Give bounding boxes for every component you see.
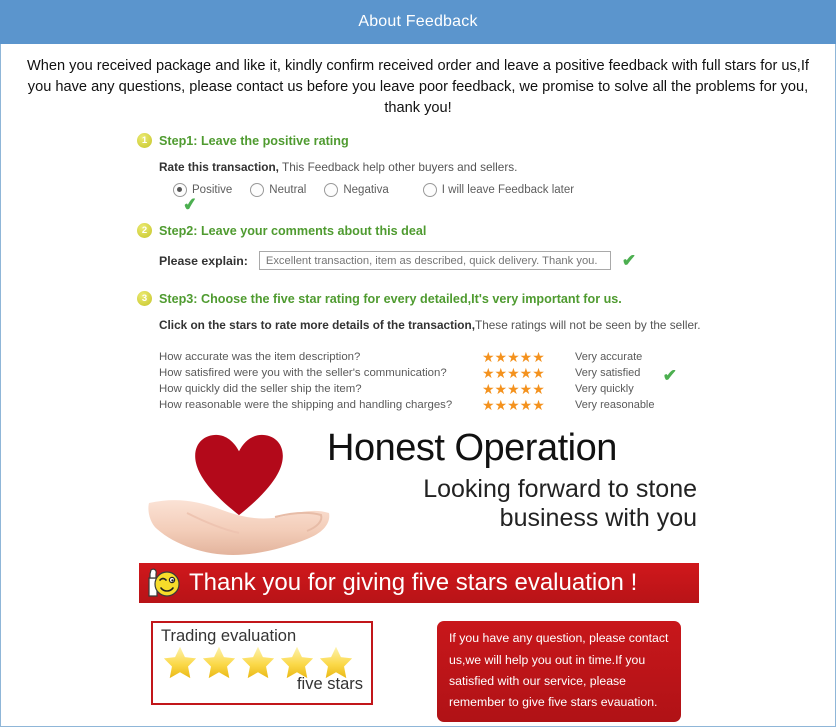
- rating-question: How satisfired were you with the seller'…: [159, 367, 482, 379]
- click-stars-bold: Click on the stars to rate more details …: [159, 318, 475, 332]
- honest-operation-text: Honest Operation Looking forward to ston…: [327, 429, 699, 533]
- page-header: About Feedback: [0, 0, 836, 44]
- promo-bottom-row: Trading evaluation five stars If you hav…: [139, 621, 699, 722]
- radio-later-label: I will leave Feedback later: [442, 184, 574, 196]
- palm-hand-icon: [147, 497, 333, 559]
- rating-stars[interactable]: ★★★★★: [482, 350, 567, 364]
- gold-star-icon: [200, 645, 238, 679]
- step-3-header: 3 Step3: Choose the five star rating for…: [137, 291, 825, 306]
- gold-star-icon: [278, 645, 316, 679]
- explain-input[interactable]: [259, 251, 611, 270]
- step-1-header: 1 Step1: Leave the positive rating: [137, 133, 825, 148]
- step-1-badge: 1: [137, 133, 152, 148]
- radio-neutral-icon[interactable]: [250, 183, 264, 197]
- rating-radio-group: Positive Neutral Negativa I will leave F…: [159, 183, 825, 209]
- rate-transaction-bold: Rate this transaction,: [159, 160, 279, 174]
- intro-paragraph: When you received package and like it, k…: [1, 44, 835, 125]
- step-2-title: Step2: Leave your comments about this de…: [159, 224, 426, 238]
- step-2-body: Please explain: ✔: [137, 251, 825, 270]
- steps-container: 1 Step1: Leave the positive rating Rate …: [1, 133, 835, 413]
- trading-evaluation-stars: [161, 645, 363, 679]
- winking-smiley-thumbsup-icon: [145, 566, 181, 600]
- honest-subtitle: Looking forward to stone business with y…: [327, 475, 699, 533]
- step-3-badge: 3: [137, 291, 152, 306]
- rating-stars[interactable]: ★★★★★: [482, 398, 567, 412]
- rating-word: Very accurate: [567, 351, 642, 363]
- explain-checkmark-icon: ✔: [622, 252, 636, 269]
- detailed-ratings-table: How accurate was the item description? ★…: [159, 349, 825, 413]
- rating-question: How quickly did the seller ship the item…: [159, 383, 482, 395]
- explain-label: Please explain:: [159, 254, 248, 268]
- rating-question: How accurate was the item description?: [159, 351, 482, 363]
- thanks-text: Thank you for giving five stars evaluati…: [189, 571, 637, 595]
- rating-row: How satisfired were you with the seller'…: [159, 365, 825, 381]
- rating-question: How reasonable were the shipping and han…: [159, 399, 482, 411]
- click-stars-rest: These ratings will not be seen by the se…: [475, 318, 701, 332]
- gold-star-icon: [317, 645, 355, 679]
- click-stars-line: Click on the stars to rate more details …: [159, 318, 825, 332]
- honest-subtitle-line1: Looking forward to stone: [327, 475, 697, 504]
- gold-star-icon: [239, 645, 277, 679]
- explain-row: Please explain: ✔: [159, 251, 825, 270]
- rating-word: Very reasonable: [567, 399, 655, 411]
- hand-holding-heart-image: [147, 427, 337, 559]
- gold-star-icon: [161, 645, 199, 679]
- honest-title: Honest Operation: [327, 429, 699, 469]
- thanks-banner: Thank you for giving five stars evaluati…: [139, 563, 699, 603]
- radio-positive-label: Positive: [192, 184, 232, 196]
- step-2-badge: 2: [137, 223, 152, 238]
- rating-stars[interactable]: ★★★★★: [482, 366, 567, 380]
- step-1-body: Rate this transaction, This Feedback hel…: [137, 160, 825, 209]
- radio-option-neutral[interactable]: Neutral: [250, 183, 306, 197]
- radio-option-later[interactable]: I will leave Feedback later: [423, 183, 574, 197]
- rate-transaction-line: Rate this transaction, This Feedback hel…: [159, 160, 825, 174]
- honest-subtitle-line2: business with you: [327, 504, 697, 533]
- feedback-page: About Feedback When you received package…: [0, 0, 836, 728]
- rating-row: How accurate was the item description? ★…: [159, 349, 825, 365]
- radio-neutral-label: Neutral: [269, 184, 306, 196]
- rate-transaction-rest: This Feedback help other buyers and sell…: [279, 160, 517, 174]
- rating-word: Very quickly: [567, 383, 634, 395]
- promo-banner: Honest Operation Looking forward to ston…: [139, 427, 699, 722]
- positive-checkmark-icon: ✔: [182, 196, 198, 215]
- radio-negativa-label: Negativa: [343, 184, 388, 196]
- honest-operation-section: Honest Operation Looking forward to ston…: [139, 427, 699, 559]
- rating-row: How quickly did the seller ship the item…: [159, 381, 825, 397]
- radio-later-icon[interactable]: [423, 183, 437, 197]
- step-3-title: Step3: Choose the five star rating for e…: [159, 292, 622, 306]
- trading-evaluation-title: Trading evaluation: [161, 627, 363, 646]
- contact-us-notice: If you have any question, please contact…: [437, 621, 681, 722]
- radio-option-negativa[interactable]: Negativa: [324, 183, 388, 197]
- rating-word: Very satisfied: [567, 367, 640, 379]
- rating-stars[interactable]: ★★★★★: [482, 382, 567, 396]
- content-frame: When you received package and like it, k…: [0, 44, 836, 727]
- page-title: About Feedback: [358, 13, 477, 31]
- rating-row: How reasonable were the shipping and han…: [159, 397, 825, 413]
- trading-evaluation-box: Trading evaluation five stars: [151, 621, 373, 705]
- step-2-header: 2 Step2: Leave your comments about this …: [137, 223, 825, 238]
- radio-negativa-icon[interactable]: [324, 183, 338, 197]
- step-3-body: Click on the stars to rate more details …: [137, 318, 825, 413]
- step-1-title: Step1: Leave the positive rating: [159, 134, 349, 148]
- ratings-checkmark-icon: ✔: [663, 367, 677, 384]
